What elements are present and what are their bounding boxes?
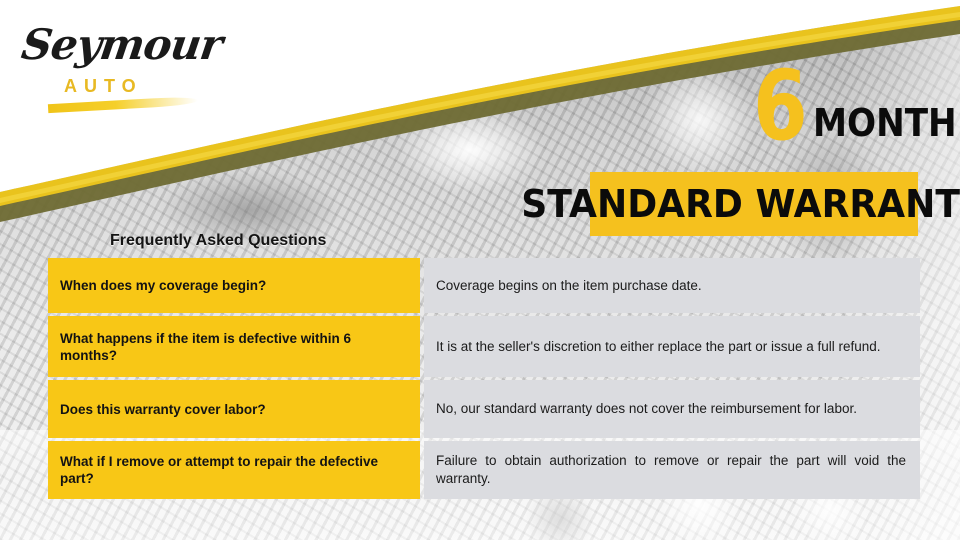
table-row: Does this warranty cover labor? No, our … — [48, 380, 920, 438]
faq-answer-cell: No, our standard warranty does not cover… — [424, 380, 920, 438]
faq-answer-cell: Coverage begins on the item purchase dat… — [424, 258, 920, 313]
faq-answer-cell: It is at the seller's discretion to eith… — [424, 316, 920, 377]
table-row: When does my coverage begin? Coverage be… — [48, 258, 920, 313]
logo-subtitle: AUTO — [64, 76, 143, 97]
warranty-slide: Seymour AUTO 6 MONTH STANDARD WARRANTY F… — [0, 0, 960, 540]
faq-answer-text: It is at the seller's discretion to eith… — [436, 338, 906, 356]
faq-question-text: What if I remove or attempt to repair th… — [60, 453, 408, 487]
faq-heading: Frequently Asked Questions — [110, 232, 326, 250]
faq-answer-cell: Failure to obtain authorization to remov… — [424, 441, 920, 499]
faq-question-text: Does this warranty cover labor? — [60, 401, 266, 418]
warranty-months-label: MONTH — [813, 104, 957, 142]
warranty-months-number: 6 — [753, 58, 808, 154]
faq-table: When does my coverage begin? Coverage be… — [48, 258, 920, 502]
seymour-auto-logo: Seymour AUTO — [18, 14, 218, 110]
faq-question-cell: Does this warranty cover labor? — [48, 380, 420, 438]
faq-question-cell: What happens if the item is defective wi… — [48, 316, 420, 377]
standard-warranty-banner: STANDARD WARRANTY — [590, 172, 918, 236]
faq-answer-text: Failure to obtain authorization to remov… — [436, 452, 906, 488]
faq-answer-text: No, our standard warranty does not cover… — [436, 400, 906, 418]
faq-question-text: What happens if the item is defective wi… — [60, 330, 408, 364]
logo-wordmark: Seymour — [19, 20, 225, 69]
table-row: What if I remove or attempt to repair th… — [48, 441, 920, 499]
faq-question-cell: What if I remove or attempt to repair th… — [48, 441, 420, 499]
faq-answer-text: Coverage begins on the item purchase dat… — [436, 277, 906, 295]
standard-warranty-banner-text: STANDARD WARRANTY — [522, 184, 960, 224]
table-row: What happens if the item is defective wi… — [48, 316, 920, 377]
faq-question-cell: When does my coverage begin? — [48, 258, 420, 313]
faq-question-text: When does my coverage begin? — [60, 277, 266, 294]
